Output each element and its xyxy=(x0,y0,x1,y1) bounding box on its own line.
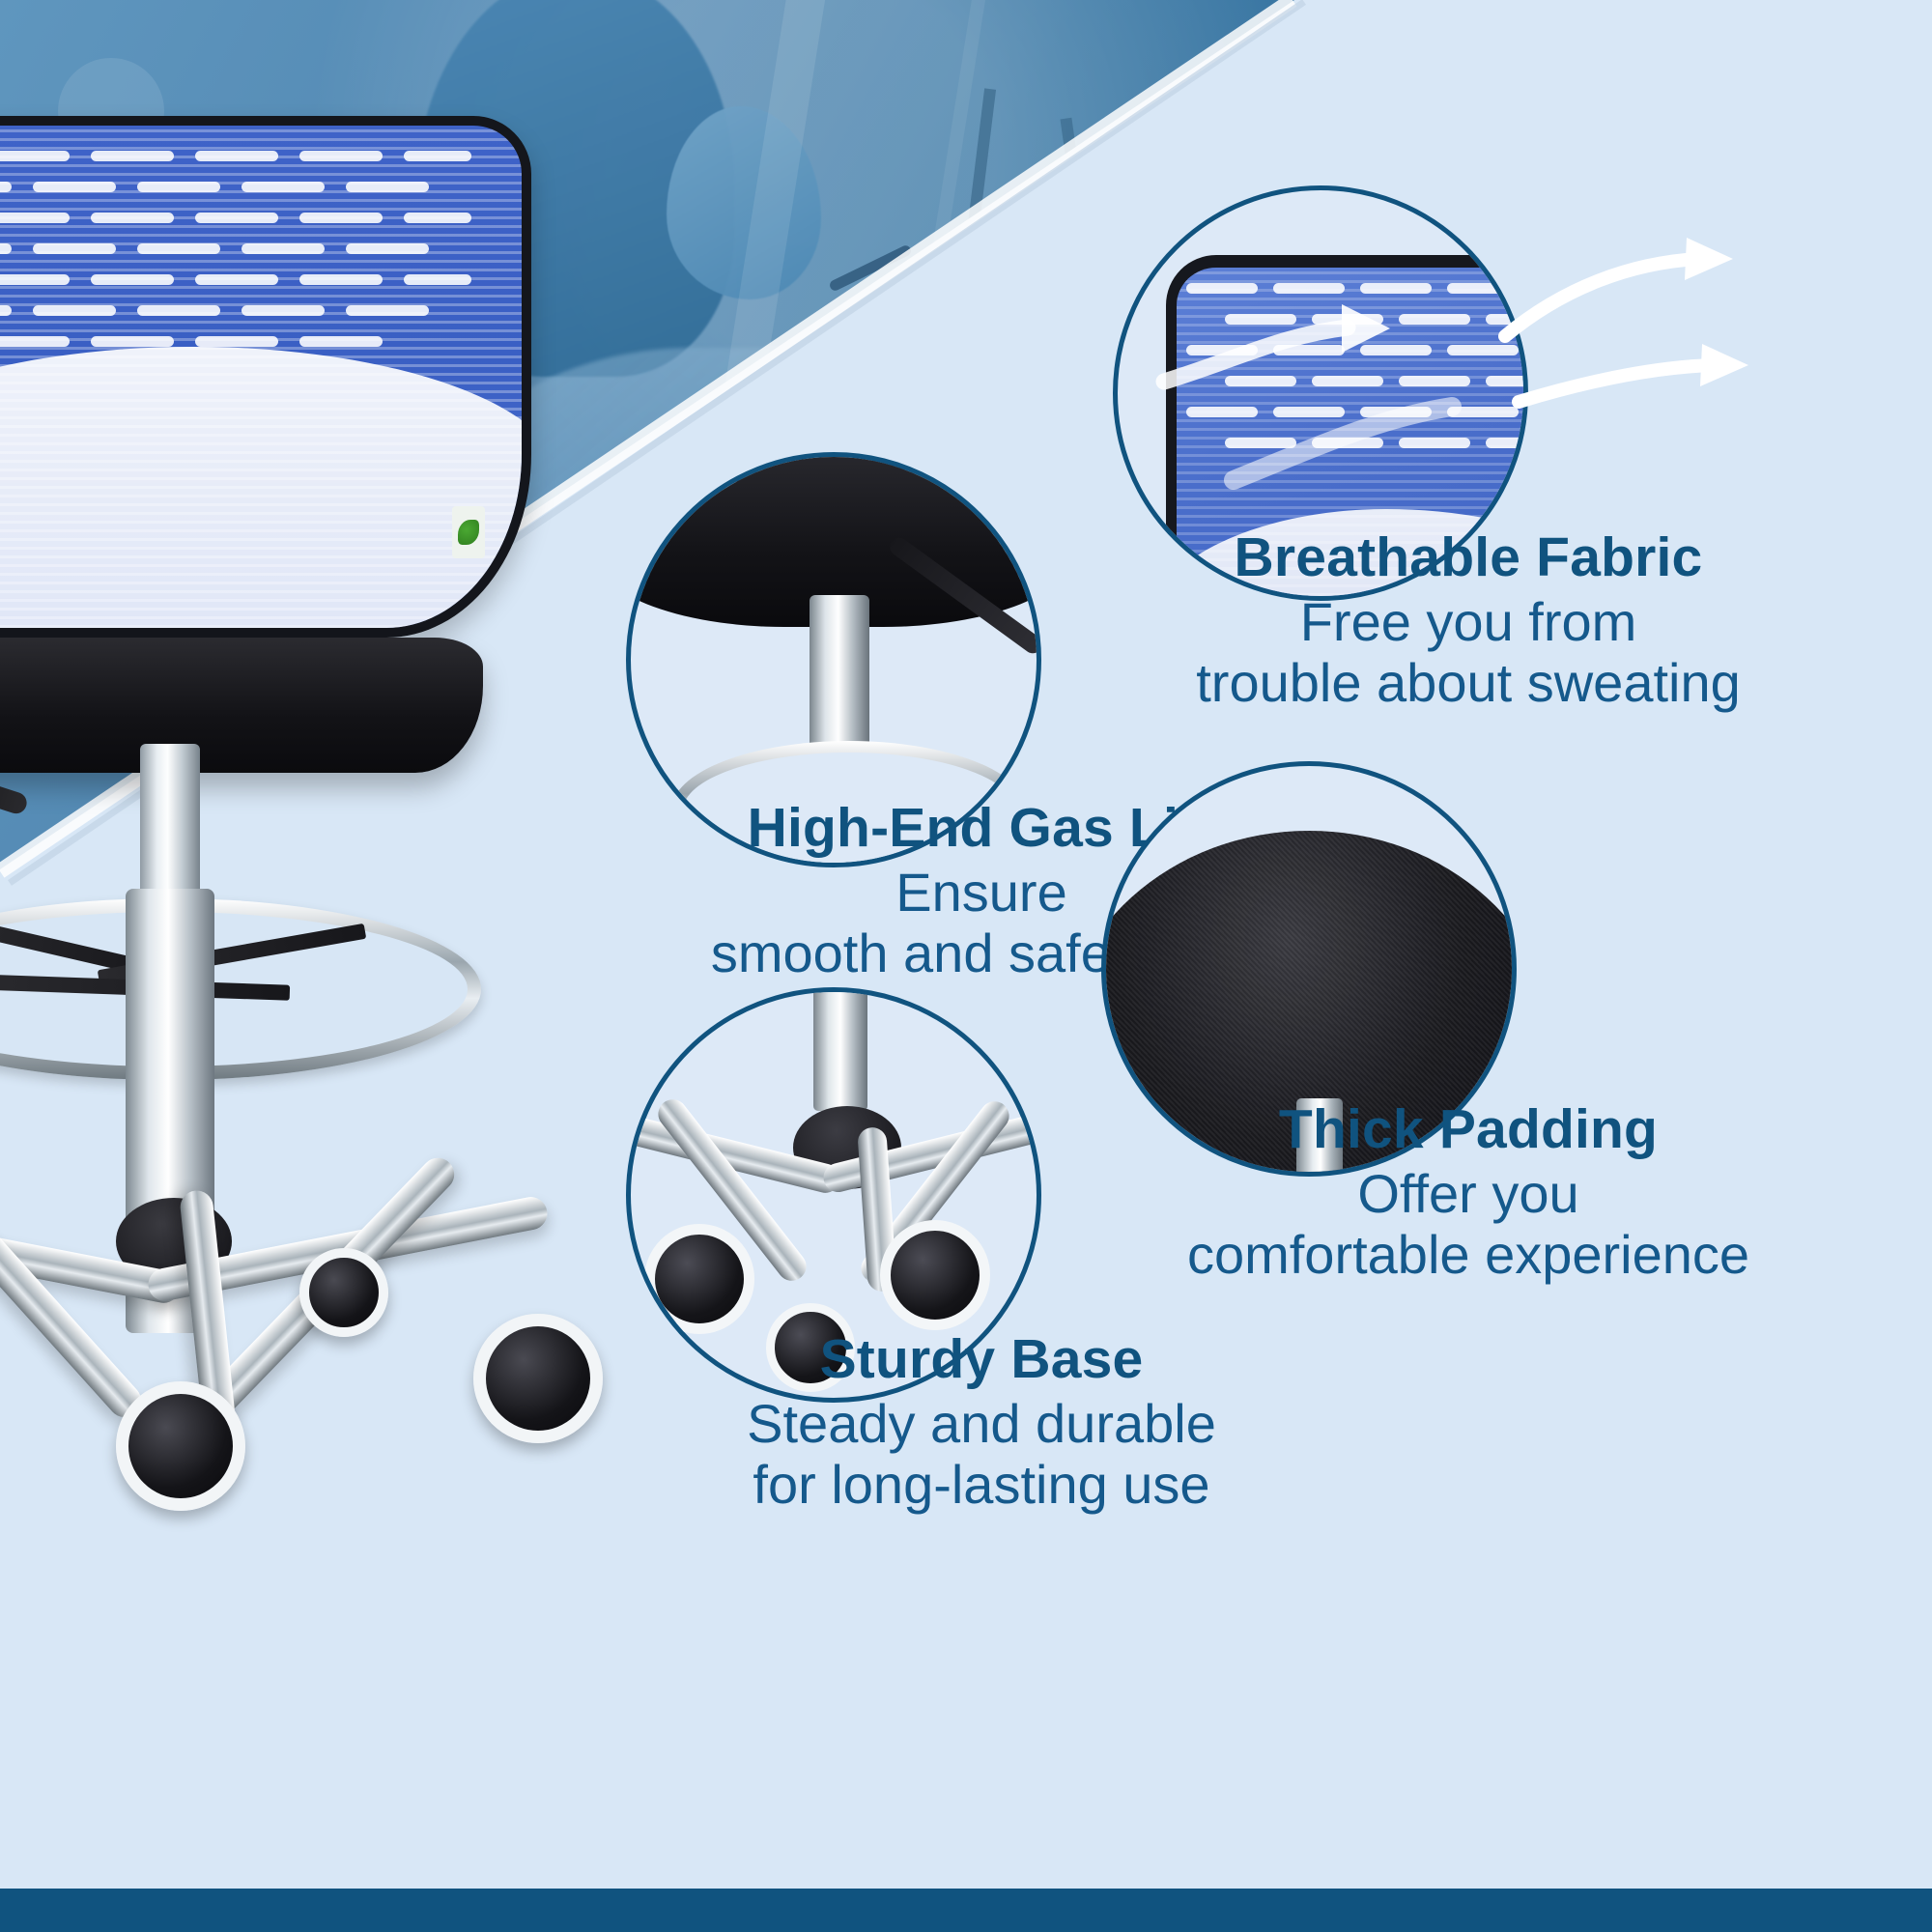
feature-title: Breathable Fabric xyxy=(1005,529,1932,586)
feature-description: Offer you comfortable experience xyxy=(1005,1164,1932,1285)
mesh-lumbar-panel xyxy=(0,347,531,638)
feature-description: Free you from trouble about sweating xyxy=(1005,592,1932,713)
mesh-dash-pattern xyxy=(0,126,522,356)
chair-seat-cushion xyxy=(0,638,483,773)
feature-title: Sturdy Base xyxy=(518,1331,1445,1388)
feature-desc-line1: Offer you xyxy=(1005,1164,1932,1225)
feature-description: Steady and durable for long-lasting use xyxy=(518,1394,1445,1515)
feature-title: Thick Padding xyxy=(1005,1101,1932,1158)
chair-mesh-backrest xyxy=(0,116,531,638)
feature-desc-line1: Steady and durable xyxy=(518,1394,1445,1455)
bottom-accent-bar xyxy=(0,1889,1932,1932)
gas-cylinder-upper xyxy=(140,744,200,908)
feature-desc-line2: trouble about sweating xyxy=(1005,653,1932,714)
feature-text-breathable-fabric: Breathable Fabric Free you from trouble … xyxy=(1005,529,1932,714)
caster-wheel xyxy=(299,1248,388,1337)
brand-tag xyxy=(452,506,485,558)
feature-text-thick-padding: Thick Padding Offer you comfortable expe… xyxy=(1005,1101,1932,1286)
caster-wheel xyxy=(880,1220,990,1330)
caster-wheel xyxy=(644,1224,754,1334)
airflow-arrows-outside-icon xyxy=(1495,220,1785,462)
feature-desc-line1: Free you from xyxy=(1005,592,1932,653)
feature-text-sturdy-base: Sturdy Base Steady and durable for long-… xyxy=(518,1331,1445,1516)
infographic-canvas: Breathable Fabric Free you from trouble … xyxy=(0,0,1932,1932)
gas-cylinder-closeup xyxy=(813,987,867,1111)
caster-wheel xyxy=(116,1381,245,1511)
feature-desc-line2: comfortable experience xyxy=(1005,1225,1932,1286)
feature-desc-line2: for long-lasting use xyxy=(518,1455,1445,1516)
